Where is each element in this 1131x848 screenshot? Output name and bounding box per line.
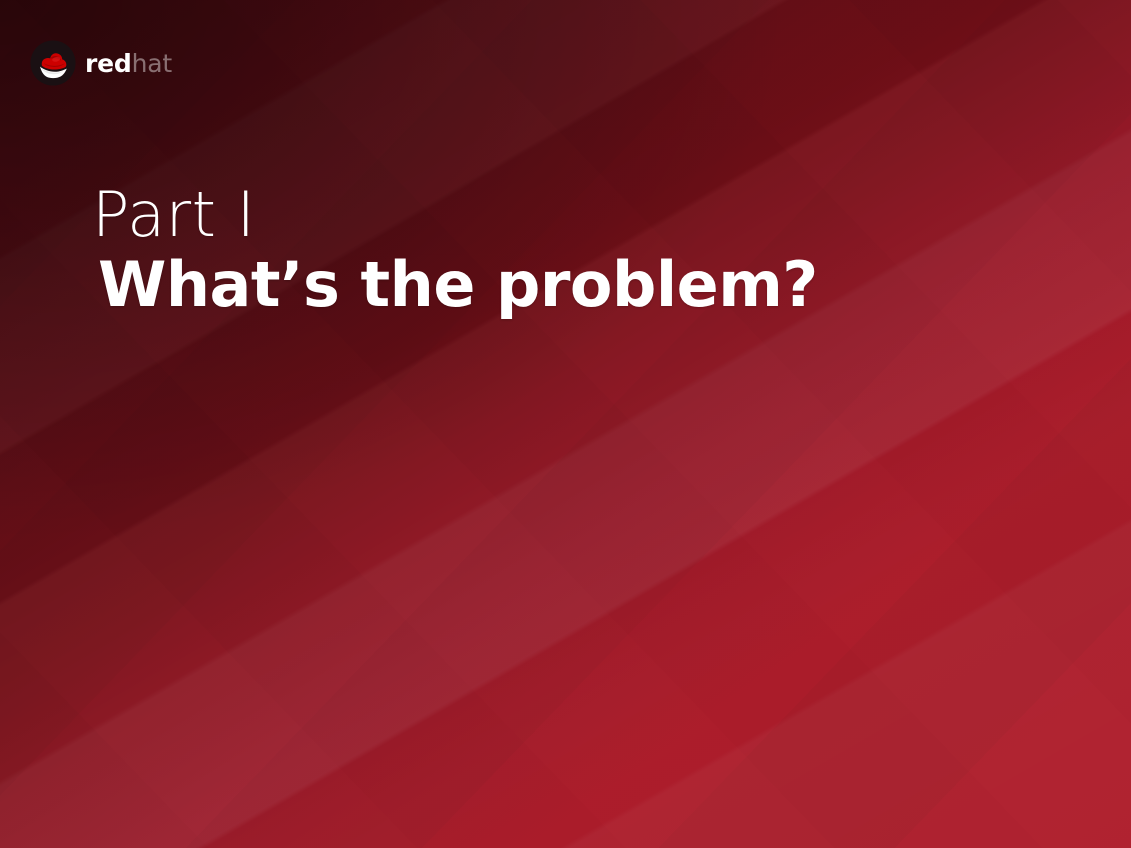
background-diagonal-bands bbox=[0, 0, 1131, 848]
redhat-wordmark: redhat bbox=[85, 51, 172, 76]
slide-title-block: Part I What’s the problem? bbox=[92, 182, 818, 317]
redhat-shadowman-icon bbox=[30, 40, 76, 86]
part-label: Part I bbox=[92, 182, 818, 248]
background-facet-lines-a bbox=[0, 0, 1131, 848]
background-facet-lines-b bbox=[0, 0, 1131, 848]
presentation-slide: redhat Part I What’s the problem? bbox=[0, 0, 1131, 848]
slide-heading: What’s the problem? bbox=[98, 252, 818, 318]
wordmark-hat: hat bbox=[132, 49, 172, 78]
background-corner-vignette bbox=[0, 0, 1131, 848]
wordmark-red: red bbox=[85, 49, 132, 78]
background-base-gradient bbox=[0, 0, 1131, 848]
redhat-logo: redhat bbox=[30, 40, 172, 86]
background-wedge-highlight bbox=[0, 0, 1131, 848]
